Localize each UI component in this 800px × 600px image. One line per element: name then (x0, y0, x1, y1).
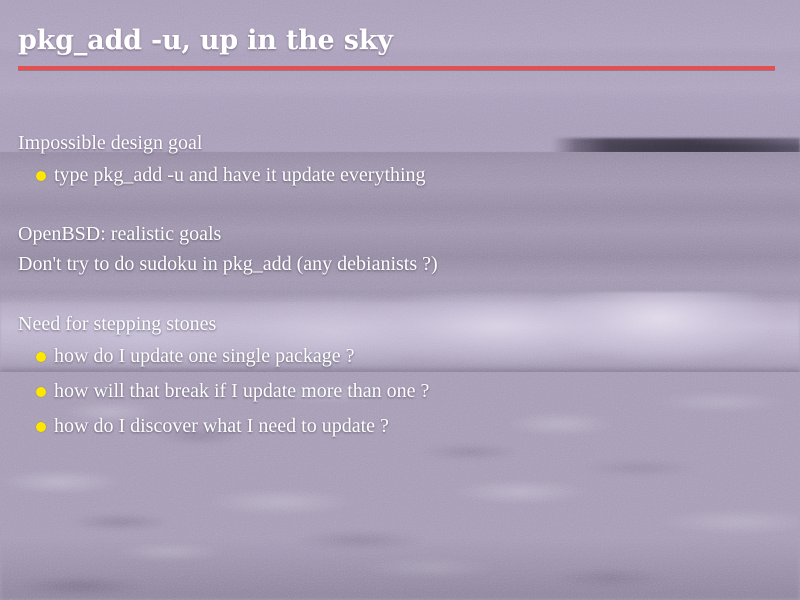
slide-content: pkg_add -u, up in the sky Impossible des… (0, 0, 800, 600)
bullet-dot-icon (36, 352, 46, 362)
slide-title: pkg_add -u, up in the sky (18, 24, 393, 58)
content-block-impossible-design-goal: Impossible design goal type pkg_add -u a… (0, 128, 800, 193)
bullet-list: type pkg_add -u and have it update every… (0, 158, 800, 193)
list-item: how do I discover what I need to update … (0, 409, 800, 444)
block-spacer (0, 193, 800, 219)
list-item-label: how do I discover what I need to update … (54, 415, 389, 437)
list-item-label: type pkg_add -u and have it update every… (54, 164, 426, 186)
block-lead-text: OpenBSD: realistic goals (0, 219, 800, 249)
bullet-dot-icon (36, 422, 46, 432)
list-item: type pkg_add -u and have it update every… (0, 158, 800, 193)
list-item: how do I update one single package ? (0, 339, 800, 374)
title-underline-rule (18, 66, 775, 70)
slide-body: Impossible design goal type pkg_add -u a… (0, 128, 800, 444)
list-item-label: how do I update one single package ? (54, 345, 354, 367)
block-lead-text: Need for stepping stones (0, 309, 800, 339)
bullet-dot-icon (36, 387, 46, 397)
block-lead-text: Impossible design goal (0, 128, 800, 158)
content-block-stepping-stones: Need for stepping stones how do I update… (0, 309, 800, 444)
bullet-dot-icon (36, 171, 46, 181)
list-item-label: how will that break if I update more tha… (54, 380, 429, 402)
block-lead-text-secondary: Don't try to do sudoku in pkg_add (any d… (0, 249, 800, 279)
bullet-list: how do I update one single package ? how… (0, 339, 800, 444)
list-item: how will that break if I update more tha… (0, 374, 800, 409)
content-block-realistic-goals: OpenBSD: realistic goals Don't try to do… (0, 219, 800, 279)
block-spacer (0, 279, 800, 309)
presentation-slide: pkg_add -u, up in the sky Impossible des… (0, 0, 800, 600)
